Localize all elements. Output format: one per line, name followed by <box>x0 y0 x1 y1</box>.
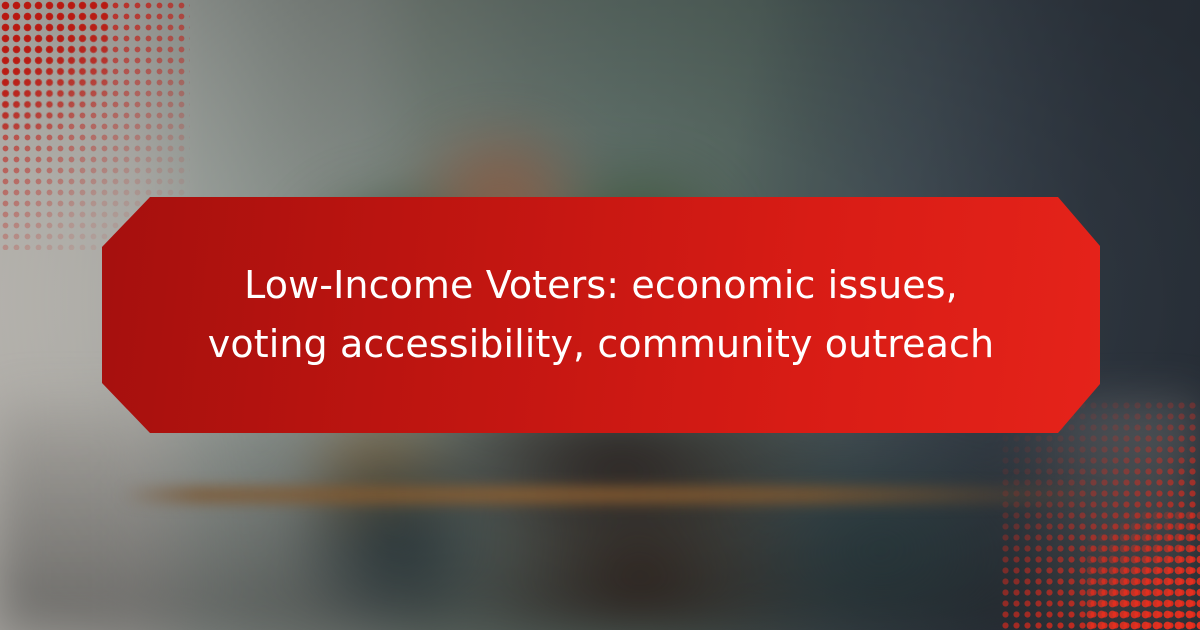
social-card: Low-Income Voters: economic issues, voti… <box>0 0 1200 630</box>
page-title: Low-Income Voters: economic issues, voti… <box>206 256 996 374</box>
title-banner: Low-Income Voters: economic issues, voti… <box>102 197 1100 433</box>
